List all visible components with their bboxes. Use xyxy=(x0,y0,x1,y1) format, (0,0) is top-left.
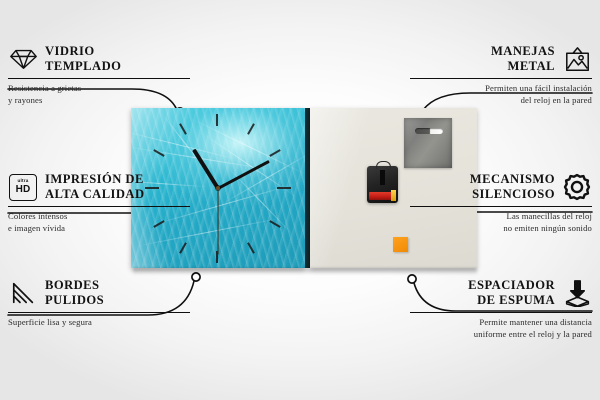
ultra-hd-icon-large-label: HD xyxy=(16,185,31,195)
feature-description: Colores intensos e imagen vívida xyxy=(8,211,190,234)
feature-divider xyxy=(410,206,592,207)
feature-title: BORDES PULIDOS xyxy=(45,278,104,308)
metal-hanger-plate xyxy=(404,118,452,168)
feature-title: ESPACIADOR DE ESPUMA xyxy=(468,278,555,308)
feature-title-line2: ALTA CALIDAD xyxy=(45,187,145,202)
battery xyxy=(369,192,396,200)
feature-vidrio-templado: VIDRIO TEMPLADO Resistencia a grietas y … xyxy=(8,42,190,107)
feature-title: VIDRIO TEMPLADO xyxy=(45,44,121,74)
feature-description: Permite mantener una distancia uniforme … xyxy=(410,317,592,340)
feature-title-line2: SILENCIOSO xyxy=(470,187,555,202)
feature-title-line2: PULIDOS xyxy=(45,293,104,308)
clock-tick xyxy=(247,123,255,134)
feature-title: MECANISMO SILENCIOSO xyxy=(470,172,555,202)
gear-icon xyxy=(562,172,592,202)
feature-divider xyxy=(8,312,190,313)
feature-bordes-pulidos: BORDES PULIDOS Superficie lisa y segura xyxy=(8,276,190,329)
clock-mechanism xyxy=(367,166,398,203)
feature-divider xyxy=(410,312,592,313)
hanger-slot xyxy=(415,128,443,134)
mechanism-shaft xyxy=(380,170,385,185)
feature-title-line1: BORDES xyxy=(45,278,104,293)
feature-title-line1: MECANISMO xyxy=(470,172,555,187)
feature-title-line1: IMPRESIÓN DE xyxy=(45,172,145,187)
mechanism-hook xyxy=(376,161,391,169)
feature-description: Permiten una fácil instalación del reloj… xyxy=(410,83,592,106)
foam-spacer xyxy=(393,237,408,252)
diamond-icon xyxy=(8,44,38,74)
clock-second-hand xyxy=(217,189,218,255)
feature-impresion-alta-calidad: ultra HD IMPRESIÓN DE ALTA CALIDAD Color… xyxy=(8,170,190,235)
feature-divider xyxy=(8,206,190,207)
feature-title-line2: METAL xyxy=(491,59,555,74)
feature-title-line1: MANEJAS xyxy=(491,44,555,59)
battery-terminal xyxy=(391,190,396,201)
feature-title-line1: ESPACIADOR xyxy=(468,278,555,293)
feature-espaciador-espuma: ESPACIADOR DE ESPUMA Permite mantener un… xyxy=(410,276,592,341)
ultra-hd-icon: ultra HD xyxy=(8,172,38,202)
feature-mecanismo-silencioso: MECANISMO SILENCIOSO Las manecillas del … xyxy=(410,170,592,235)
clock-tick xyxy=(277,187,291,189)
foam-spacer-icon xyxy=(562,278,592,308)
polished-edges-icon xyxy=(8,278,38,308)
feature-title: IMPRESIÓN DE ALTA CALIDAD xyxy=(45,172,145,202)
feature-title-line1: VIDRIO xyxy=(45,44,121,59)
clock-tick xyxy=(247,242,255,253)
feature-manejas-metal: MANEJAS METAL Permiten una fácil instala… xyxy=(410,42,592,107)
clock-tick xyxy=(179,242,187,253)
clock-tick xyxy=(216,114,218,126)
clock-center-pivot xyxy=(216,186,220,190)
clock-hour-hand xyxy=(192,149,219,190)
feature-title-line2: TEMPLADO xyxy=(45,59,121,74)
product-shadow xyxy=(133,268,477,275)
feature-title: MANEJAS METAL xyxy=(491,44,555,74)
feature-title-line2: DE ESPUMA xyxy=(468,293,555,308)
feature-divider xyxy=(8,78,190,79)
clock-tick xyxy=(269,149,280,157)
picture-hanger-icon xyxy=(562,44,592,74)
feature-divider xyxy=(410,78,592,79)
feature-description: Superficie lisa y segura xyxy=(8,317,190,329)
feature-description: Resistencia a grietas y rayones xyxy=(8,83,190,106)
feature-description: Las manecillas del reloj no emiten ningú… xyxy=(410,211,592,234)
clock-tick xyxy=(179,123,187,134)
infographic-canvas: VIDRIO TEMPLADO Resistencia a grietas y … xyxy=(0,0,600,400)
